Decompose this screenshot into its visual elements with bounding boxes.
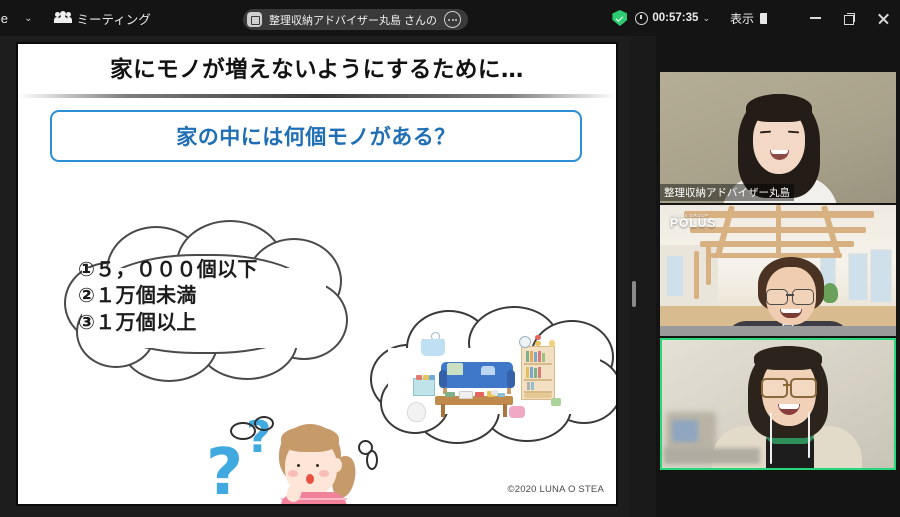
panel-divider: [630, 36, 656, 517]
app-name-label: ce: [0, 11, 8, 26]
more-options-icon[interactable]: [444, 11, 461, 28]
answer-option-2: ②１万個未満: [78, 282, 328, 308]
close-button[interactable]: [866, 0, 900, 36]
meeting-label: ミーティング: [77, 9, 151, 28]
question-mark-large: ?: [206, 436, 243, 506]
video-tile-3-active-speaker[interactable]: [660, 338, 896, 470]
squiggle-decor-1: [230, 422, 256, 440]
timer-chevron-down-icon[interactable]: ⌄: [702, 13, 710, 24]
title-divider: [18, 94, 616, 98]
panel-resize-handle[interactable]: [632, 281, 636, 307]
video-tile-1[interactable]: 整理収納アドバイザー丸島: [660, 72, 896, 203]
view-label: 表示: [730, 10, 754, 27]
close-icon: [878, 13, 889, 24]
toolbar-left-group: ce ⌄ ミーティング: [0, 9, 151, 28]
minimize-button[interactable]: [798, 0, 832, 36]
participant-video-panel: 整理収納アドバイザー丸島 POLUS GROUP POLUS: [656, 36, 900, 517]
bookshelf-icon: [521, 346, 555, 400]
room-illustration: [413, 334, 583, 434]
answer-option-1: ①５，０００個以下: [78, 256, 328, 282]
paper-on-floor-icon: [551, 398, 561, 406]
sofa-icon: [441, 362, 513, 392]
clock-decor-icon: [519, 336, 531, 348]
coffee-table-icon: [435, 396, 513, 418]
shelf-decor-2: [535, 341, 541, 346]
people-icon: [55, 12, 71, 24]
polus-watermark-label: POLUS: [670, 216, 716, 230]
app-chevron-down-icon[interactable]: ⌄: [24, 13, 32, 24]
view-layout-button[interactable]: 表示: [730, 10, 772, 27]
timer-value: 00:57:35: [652, 12, 698, 24]
clock-icon: [635, 12, 648, 25]
small-cup-icon: [491, 390, 498, 395]
video-tile-2[interactable]: POLUS GROUP POLUS: [660, 205, 896, 336]
shared-screen-area: 家にモノが増えないようにするために… 家の中には何個モノがある？ ①５，０００個…: [0, 36, 630, 517]
trash-bag-icon: [407, 402, 426, 422]
answer-options: ①５，０００個以下 ②１万個未満 ③１万個以上: [78, 256, 328, 335]
slide-copyright: ©2020 LUNA O STEA: [508, 484, 604, 495]
minimize-icon: [810, 17, 821, 19]
polus-watermark: POLUS GROUP POLUS: [670, 213, 716, 230]
window-controls: [798, 0, 900, 36]
share-title-label: 整理収納アドバイザー丸島 さんの: [269, 12, 437, 28]
meeting-button[interactable]: ミーティング: [55, 9, 151, 28]
restore-button[interactable]: [832, 0, 866, 36]
window-toolbar: ce ⌄ ミーティング 整理収納アドバイザー丸島 さんの 00:57:35 ⌄: [0, 0, 900, 36]
shelf-decor-3: [549, 340, 555, 347]
meeting-timer[interactable]: 00:57:35 ⌄: [635, 12, 710, 25]
meeting-window: ce ⌄ ミーティング 整理収納アドバイザー丸島 さんの 00:57:35 ⌄: [0, 0, 900, 517]
encryption-shield-icon: [612, 10, 627, 26]
layout-icon: [760, 13, 772, 24]
toy-on-floor-icon: [509, 406, 525, 418]
shelf-decor-1: [535, 335, 541, 340]
clothes-hanger-icon: [419, 332, 447, 358]
screen-share-icon: [247, 12, 262, 27]
question-box: 家の中には何個モノがある？: [50, 110, 582, 162]
presentation-slide: 家にモノが増えないようにするために… 家の中には何個モノがある？ ①５，０００個…: [16, 42, 618, 506]
screen-share-indicator[interactable]: 整理収納アドバイザー丸島 さんの: [243, 9, 468, 30]
answer-option-3: ③１万個以上: [78, 309, 328, 335]
toolbar-right-group: 00:57:35 ⌄ 表示: [612, 0, 900, 36]
restore-icon: [844, 13, 854, 23]
thinking-girl-illustration: [261, 422, 371, 506]
slide-title: 家にモノが増えないようにするために…: [18, 52, 616, 84]
toy-box-icon: [413, 378, 435, 396]
participant-name-1: 整理収納アドバイザー丸島: [660, 184, 794, 201]
question-text: 家の中には何個モノがある？: [176, 121, 456, 151]
